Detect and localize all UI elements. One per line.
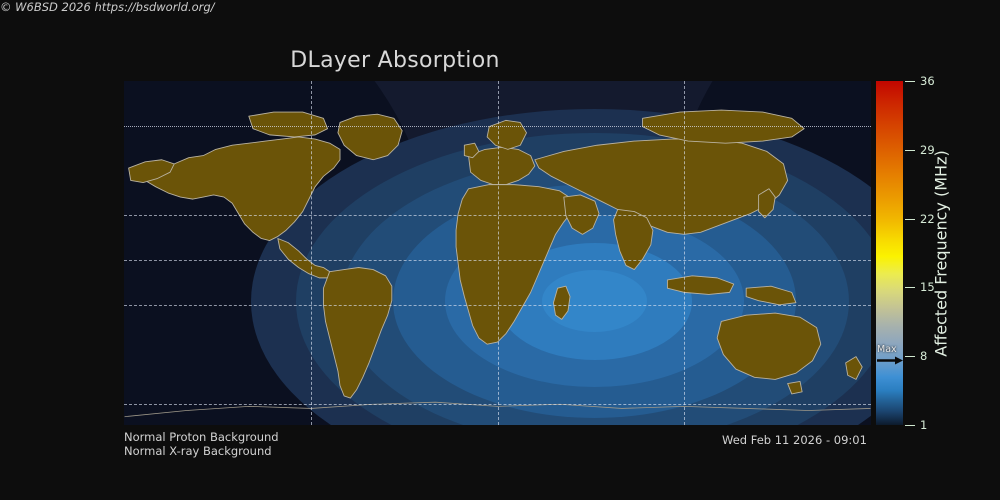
colorbar-tick-36	[905, 81, 915, 82]
land-tasmania	[788, 381, 803, 393]
colorbar-axis-label: Affected Frequency (MHz)	[929, 81, 953, 425]
land-japan	[759, 189, 776, 218]
land-australia	[717, 313, 821, 379]
horizontal-gridline-2	[124, 260, 871, 261]
status-xray-background: Normal X-ray Background	[124, 444, 272, 458]
world-map[interactable]	[124, 81, 871, 425]
colorbar-tick-15	[905, 287, 915, 288]
land-scandinavia	[487, 120, 526, 149]
horizontal-gridline-3	[124, 305, 871, 306]
land-madagascar	[553, 286, 570, 319]
land-indonesia	[667, 276, 733, 295]
colorbar-tick-label-1: 1	[920, 418, 927, 432]
land-canada-arctic	[249, 112, 328, 137]
dlayer-absorption-map-view: DLayer Absorption	[0, 0, 1000, 500]
timestamp: Wed Feb 11 2026 - 09:01	[722, 433, 867, 447]
status-proton-background: Normal Proton Background	[124, 430, 279, 444]
copyright-notice: © W6BSD 2026 https://bsdworld.org/	[0, 0, 1000, 14]
land-newzealand	[846, 357, 863, 380]
horizontal-gridline-1	[124, 215, 871, 216]
land-south-america	[323, 268, 391, 399]
horizontal-gridline-4	[124, 404, 871, 405]
land-newguinea	[746, 286, 796, 305]
horizontal-gridline-0	[124, 126, 871, 127]
colorbar-tick-22	[905, 219, 915, 220]
land-africa	[456, 185, 572, 345]
colorbar-axis-label-text: Affected Frequency (MHz)	[932, 150, 951, 356]
colorbar-tick-1	[905, 425, 915, 426]
page-title: DLayer Absorption	[0, 48, 790, 73]
vertical-gridline-0	[311, 81, 312, 425]
map-clip	[124, 81, 871, 425]
vertical-gridline-2	[684, 81, 685, 425]
colorbar-tick-29	[905, 150, 915, 151]
colorbar-tick-8	[905, 356, 915, 357]
colorbar-tick-label-8: 8	[920, 349, 927, 363]
land-central-america	[278, 238, 330, 277]
vertical-gridline-1	[498, 81, 499, 425]
land-greenland	[338, 114, 402, 160]
land-europe	[468, 147, 534, 184]
